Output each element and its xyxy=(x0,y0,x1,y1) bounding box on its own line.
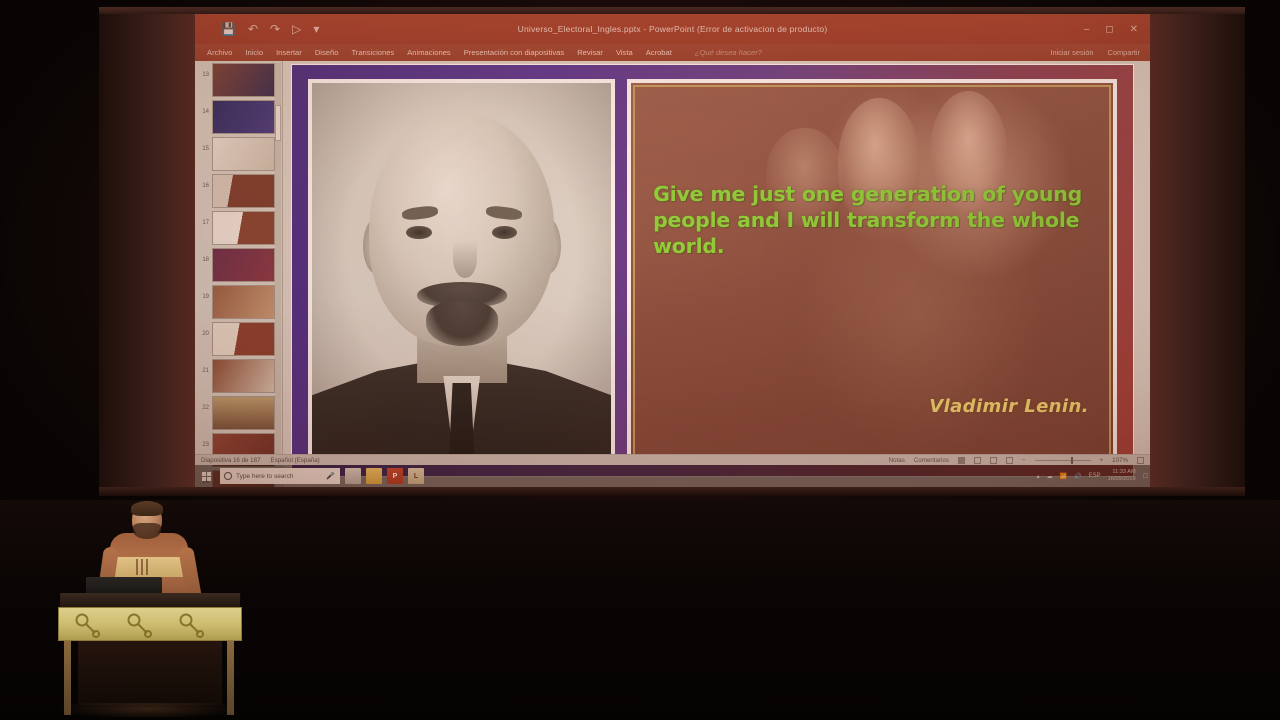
search-input[interactable]: Type here to search 🎤 xyxy=(220,468,340,484)
presenter-beard xyxy=(133,523,161,539)
podium-shelf-shadow xyxy=(78,641,222,705)
status-bar-right[interactable]: Notas Comentarios − + 107% xyxy=(889,457,1144,464)
projection-screen: 💾 ↶ ↷ ▷ ▾ Universo_Electoral_Ingles.pptx… xyxy=(99,7,1245,496)
reading-view-icon[interactable] xyxy=(990,457,997,464)
portrait-vignette xyxy=(312,83,611,458)
office-icon[interactable]: L xyxy=(408,468,424,484)
presenter-and-podium xyxy=(40,495,280,720)
podium xyxy=(58,593,242,715)
scrollbar-thumb[interactable] xyxy=(275,105,281,141)
thumbnail-item[interactable]: 21 xyxy=(195,357,282,394)
screen-left-curtain xyxy=(99,14,195,487)
onedrive-icon[interactable]: ☁ xyxy=(1047,473,1053,480)
thumbnail-image[interactable] xyxy=(212,63,275,97)
ribbon-tab-transiciones[interactable]: Transiciones xyxy=(351,48,394,57)
lecture-hall-scene: 💾 ↶ ↷ ▷ ▾ Universo_Electoral_Ingles.pptx… xyxy=(0,0,1280,720)
tell-me-search[interactable]: ¿Qué desea hacer? xyxy=(695,48,762,57)
thumbnail-image[interactable] xyxy=(212,285,275,319)
thumbnail-image[interactable] xyxy=(212,174,275,208)
document-title: Universo_Electoral_Ingles.pptx - PowerPo… xyxy=(195,24,1150,34)
zoom-slider[interactable] xyxy=(1035,460,1091,461)
thumbnail-item[interactable]: 20 xyxy=(195,320,282,357)
podium-logo-icon xyxy=(125,612,155,638)
microphone-icon[interactable]: 🎤 xyxy=(326,472,335,480)
close-icon[interactable]: ✕ xyxy=(1130,24,1138,35)
ribbon-tab-bar[interactable]: Archivo Inicio Insertar Diseño Transicio… xyxy=(195,44,1150,61)
thumbnail-image[interactable] xyxy=(212,137,275,171)
thumbnail-item[interactable]: 18 xyxy=(195,246,282,283)
title-bar: 💾 ↶ ↷ ▷ ▾ Universo_Electoral_Ingles.pptx… xyxy=(195,14,1150,44)
thumbnail-number: 14 xyxy=(198,100,209,117)
zoom-in-button[interactable]: + xyxy=(1100,457,1104,464)
tray-language[interactable]: ESP xyxy=(1089,473,1101,479)
clock-date: 16/09/2019 xyxy=(1108,476,1136,482)
window-controls[interactable]: – ◻ ✕ xyxy=(1084,24,1138,35)
thumbnail-number: 15 xyxy=(198,137,209,154)
screen-surface: 💾 ↶ ↷ ▷ ▾ Universo_Electoral_Ingles.pptx… xyxy=(195,14,1150,487)
language-indicator[interactable]: Español (España) xyxy=(271,457,320,464)
powerpoint-status-bar: Diapositiva 16 de 187 Español (España) N… xyxy=(195,454,1150,465)
zoom-percent[interactable]: 107% xyxy=(1112,457,1128,464)
thumbnail-number: 13 xyxy=(198,63,209,80)
ribbon-tab-insertar[interactable]: Insertar xyxy=(276,48,302,57)
slideshow-view-icon[interactable] xyxy=(1006,457,1013,464)
ribbon-tab-inicio[interactable]: Inicio xyxy=(245,48,263,57)
comments-button[interactable]: Comentarios xyxy=(914,457,949,464)
thumbnail-image[interactable] xyxy=(212,322,275,356)
system-tray[interactable]: ▴ ☁ 📶 🔊 ESP 11:33 AM 16/09/2019 ☐ xyxy=(1037,469,1148,483)
search-placeholder: Type here to search xyxy=(236,473,293,480)
thumbnail-image[interactable] xyxy=(212,359,275,393)
thumbnail-scrollbar[interactable] xyxy=(275,63,281,487)
powerpoint-icon[interactable]: P xyxy=(387,468,403,484)
thumbnail-image[interactable] xyxy=(212,100,275,134)
slide-counter[interactable]: Diapositiva 16 de 187 xyxy=(201,457,261,464)
share-button[interactable]: Compartir xyxy=(1108,48,1140,57)
slide-thumbnail-pane[interactable]: 13 14 15 16 xyxy=(195,61,283,487)
screen-right-curtain xyxy=(1149,14,1245,487)
sign-in-link[interactable]: Iniciar sesión xyxy=(1050,48,1093,57)
presenter-jacket-stripe xyxy=(110,557,188,577)
normal-view-icon[interactable] xyxy=(958,457,965,464)
minimize-icon[interactable]: – xyxy=(1084,24,1090,35)
windows-start-icon[interactable] xyxy=(198,468,215,485)
notes-button[interactable]: Notas xyxy=(889,457,905,464)
thumbnail-number: 16 xyxy=(198,174,209,191)
lenin-portrait-image[interactable] xyxy=(308,79,615,462)
cortana-circle-icon[interactable] xyxy=(224,472,232,480)
clock-time: 11:33 AM xyxy=(1112,469,1135,475)
quote-attribution: Vladimir Lenin. xyxy=(929,396,1089,417)
podium-logo-icon xyxy=(73,612,103,638)
action-center-icon[interactable]: ☐ xyxy=(1143,473,1148,480)
thumbnail-number: 19 xyxy=(198,285,209,302)
thumbnail-number: 18 xyxy=(198,248,209,265)
thumbnail-number: 17 xyxy=(198,211,209,228)
volume-icon[interactable]: 🔊 xyxy=(1074,473,1081,480)
ribbon-tab-animaciones[interactable]: Animaciones xyxy=(407,48,450,57)
presenter-hair xyxy=(131,501,163,516)
thumbnail-image[interactable] xyxy=(212,396,275,430)
ribbon-right-actions[interactable]: Iniciar sesión Compartir xyxy=(1050,48,1140,57)
zoom-out-button[interactable]: − xyxy=(1022,457,1026,464)
thumbnail-image[interactable] xyxy=(212,211,275,245)
thumbnail-image[interactable] xyxy=(212,248,275,282)
ribbon-tab-vista[interactable]: Vista xyxy=(616,48,633,57)
windows-taskbar: Type here to search 🎤 P L ▴ ☁ 📶 🔊 ESP xyxy=(195,465,1150,487)
sorter-view-icon[interactable] xyxy=(974,457,981,464)
ribbon-tab-presentacion[interactable]: Presentación con diapositivas xyxy=(464,48,564,57)
zoom-slider-handle[interactable] xyxy=(1071,457,1073,464)
thumbnail-item[interactable]: 19 xyxy=(195,283,282,320)
ribbon-tab-revisar[interactable]: Revisar xyxy=(577,48,603,57)
network-icon[interactable]: 📶 xyxy=(1060,473,1067,480)
thumbnail-item[interactable]: 22 xyxy=(195,394,282,431)
task-view-icon[interactable] xyxy=(345,468,361,484)
thumbnail-item[interactable]: 17 xyxy=(195,209,282,246)
thumbnail-number: 21 xyxy=(198,359,209,376)
quote-text: Give me just one generation of young peo… xyxy=(653,181,1103,260)
thumbnail-item[interactable]: 15 xyxy=(195,135,282,172)
ribbon-tab-archivo[interactable]: Archivo xyxy=(207,48,232,57)
fit-slide-icon[interactable] xyxy=(1137,457,1144,464)
quote-image-panel[interactable]: Give me just one generation of young peo… xyxy=(627,79,1117,462)
file-explorer-icon[interactable] xyxy=(366,468,382,484)
thumbnail-number: 20 xyxy=(198,322,209,339)
podium-top-surface xyxy=(60,593,241,608)
thumbnail-item[interactable]: 13 xyxy=(195,61,282,98)
thumbnail-item[interactable]: 16 xyxy=(195,172,282,209)
thumbnail-number: 23 xyxy=(198,433,209,450)
thumbnail-item[interactable]: 14 xyxy=(195,98,282,135)
restore-icon[interactable]: ◻ xyxy=(1105,24,1113,35)
podium-logo-icon xyxy=(177,612,207,638)
current-slide[interactable]: Give me just one generation of young peo… xyxy=(291,64,1134,477)
podium-floor-glow xyxy=(40,703,280,717)
powerpoint-window: 💾 ↶ ↷ ▷ ▾ Universo_Electoral_Ingles.pptx… xyxy=(195,14,1150,487)
ribbon-tab-diseno[interactable]: Diseño xyxy=(315,48,339,57)
taskbar-clock[interactable]: 11:33 AM 16/09/2019 xyxy=(1108,469,1136,483)
portrait-canvas xyxy=(312,83,611,458)
thumbnail-number: 22 xyxy=(198,396,209,413)
ribbon-tab-acrobat[interactable]: Acrobat xyxy=(646,48,672,57)
show-hidden-icons-icon[interactable]: ▴ xyxy=(1037,473,1040,480)
slide-editing-area: Give me just one generation of young peo… xyxy=(283,61,1150,487)
podium-front-panel xyxy=(58,607,242,641)
powerpoint-body: 13 14 15 16 xyxy=(195,61,1150,487)
